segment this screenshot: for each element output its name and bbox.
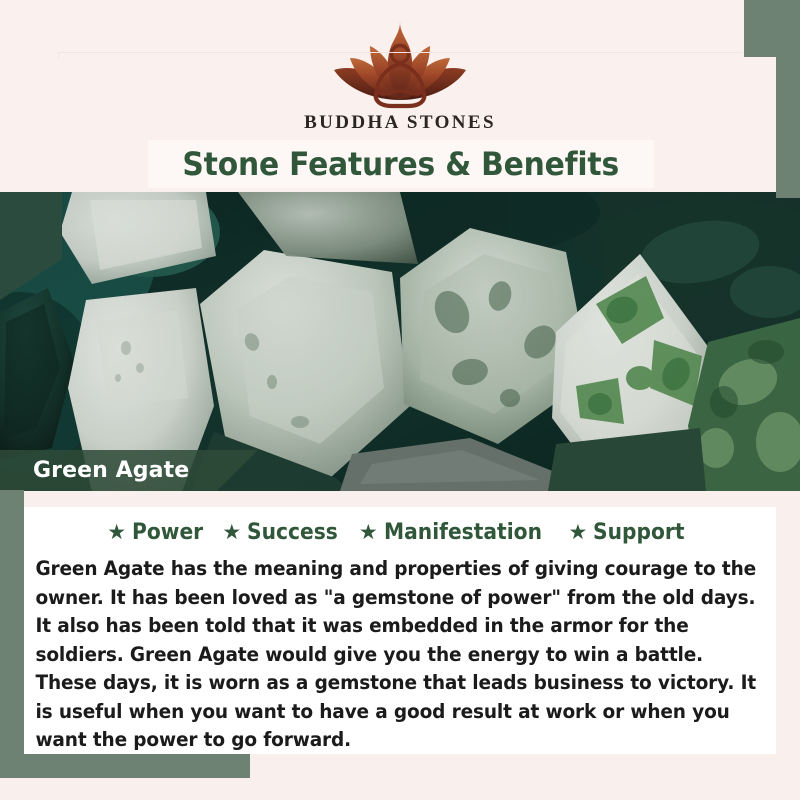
benefit-label: Manifestation — [384, 520, 542, 545]
benefit-item: ★ Power — [107, 520, 209, 545]
content-card: ★ Power ★ Success ★ Manifestation ★ Supp… — [24, 507, 776, 754]
frame-accent-top-right — [744, 0, 800, 57]
stone-name-tag: Green Agate — [0, 450, 258, 491]
frame-accent-left — [0, 490, 24, 778]
benefit-label: Power — [132, 520, 203, 545]
poster: BUDDHA STONES Stone Features & Benefits … — [0, 0, 800, 800]
photo-content-seam — [0, 491, 800, 507]
benefit-label: Success — [247, 520, 338, 545]
benefit-item: ★ Success — [222, 520, 346, 545]
benefit-item: ★ Manifestation — [359, 520, 556, 545]
stone-description: Green Agate has the meaning and properti… — [24, 555, 771, 755]
stone-photo — [0, 192, 800, 491]
star-icon: ★ — [568, 522, 587, 543]
frame-bottom-strip — [0, 778, 800, 800]
star-icon: ★ — [222, 522, 241, 543]
star-icon: ★ — [359, 522, 378, 543]
frame-accent-bottom-left — [0, 754, 250, 778]
page-title: Stone Features & Benefits — [183, 145, 620, 183]
benefit-item: ★ Support — [568, 520, 692, 545]
benefit-label: Support — [593, 520, 685, 545]
lotus-meditation-icon — [316, 14, 484, 110]
page-title-band: Stone Features & Benefits — [148, 140, 654, 188]
brand-logo: BUDDHA STONES — [0, 14, 800, 134]
stone-name-label: Green Agate — [0, 458, 189, 483]
star-icon: ★ — [107, 522, 126, 543]
brand-name: BUDDHA STONES — [0, 112, 800, 134]
benefits-row: ★ Power ★ Success ★ Manifestation ★ Supp… — [24, 507, 776, 549]
